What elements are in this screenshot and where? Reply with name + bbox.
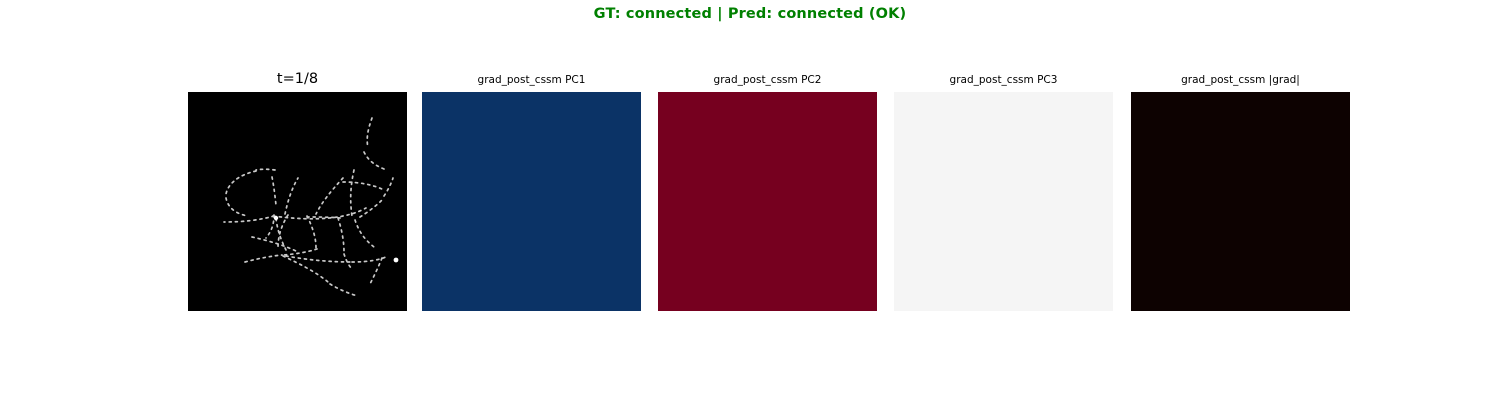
- panel-image-grad-post-cssm-pc3: [894, 92, 1113, 311]
- panel-t-1-8[interactable]: t=1/8: [188, 92, 407, 311]
- panel-grid: t=1/8 grad_post_cssm PC1 grad_post_cssm …: [0, 0, 1500, 400]
- panel-title-grad-post-cssm-absgrad: grad_post_cssm |grad|: [1091, 74, 1390, 87]
- panel-grad-post-cssm-pc3[interactable]: grad_post_cssm PC3: [894, 92, 1113, 311]
- panel-image-grad-post-cssm-absgrad: [1131, 92, 1350, 311]
- panel-grad-post-cssm-pc2[interactable]: grad_post_cssm PC2: [658, 92, 877, 311]
- panel-image-grad-post-cssm-pc2: [658, 92, 877, 311]
- curve-node: [274, 216, 278, 220]
- panel-grad-post-cssm-pc1[interactable]: grad_post_cssm PC1: [422, 92, 641, 311]
- panel-image-grad-post-cssm-pc1: [422, 92, 641, 311]
- curve-node: [394, 258, 399, 263]
- panel-grad-post-cssm-absgrad[interactable]: grad_post_cssm |grad|: [1131, 92, 1350, 311]
- panel-image-t-1-8: [188, 92, 407, 311]
